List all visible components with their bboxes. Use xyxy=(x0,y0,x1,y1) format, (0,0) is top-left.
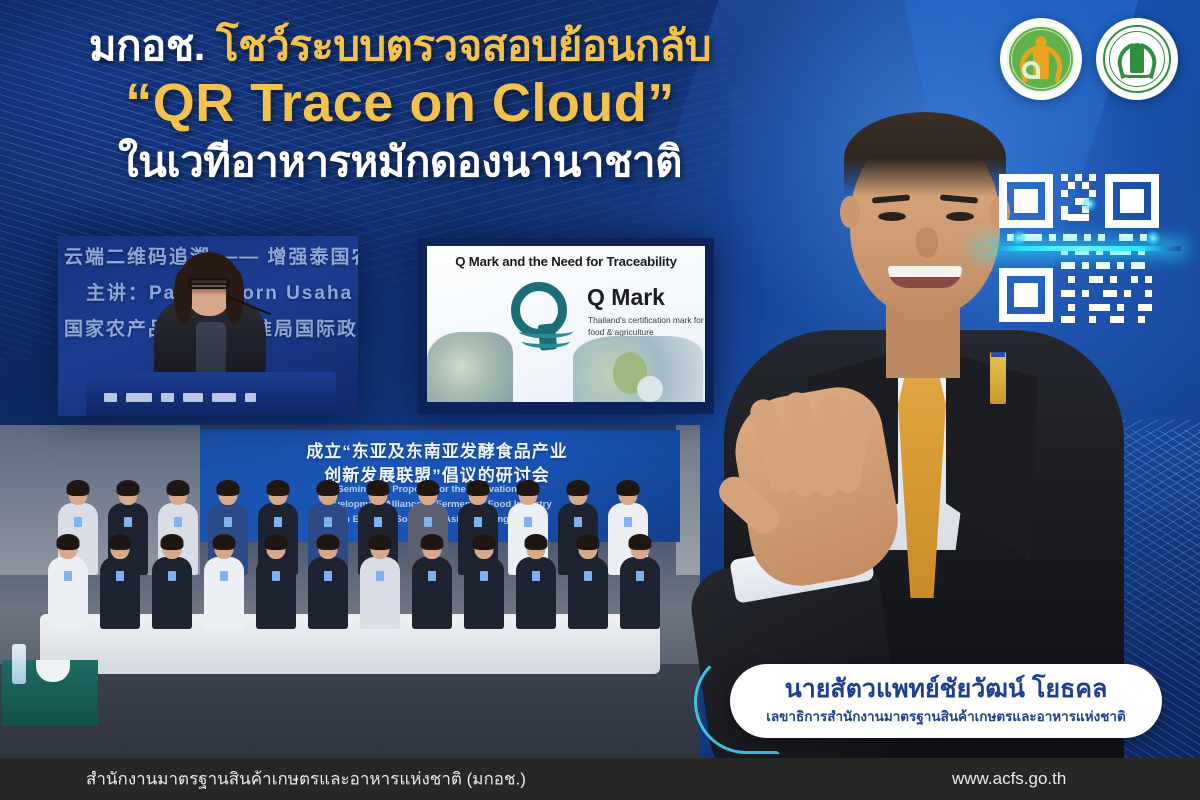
group-person xyxy=(566,537,610,629)
group-person xyxy=(46,537,90,629)
water-bottle-icon xyxy=(12,644,26,684)
group-person xyxy=(618,537,662,629)
footer-bar: สำนักงานมาตรฐานสินค้าเกษตรและอาหารแห่งชา… xyxy=(0,758,1200,800)
group-backdrop-chinese-line-1: 成立“东亚及东南亚发酵食品产业 xyxy=(222,437,652,462)
slide-fruit-icon xyxy=(637,376,663,402)
name-badge-person-name: นายสัตวแพทย์ชัยวัฒน์ โยธคล xyxy=(785,675,1108,704)
agency-emblems xyxy=(1000,18,1178,100)
qr-scan-line xyxy=(981,246,1181,251)
eyeglasses-icon xyxy=(188,278,230,289)
portrait-eye-right xyxy=(946,212,974,221)
speaker-podium-photo: 云端二维码追溯 —— 增强泰国农 主讲：Patamaporn Usaha 国家农… xyxy=(58,236,358,416)
name-badge-person-role: เลขาธิการสำนักงานมาตรฐานสินค้าเกษตรและอา… xyxy=(766,705,1125,727)
headline-block: มกอช. โชว์ระบบตรวจสอบย้อนกลับ “QR Trace … xyxy=(0,22,800,185)
group-person xyxy=(306,537,350,629)
podium-sponsor-logos xyxy=(104,393,256,402)
group-person xyxy=(98,537,142,629)
group-person xyxy=(462,537,506,629)
footer-organization-name: สำนักงานมาตรฐานสินค้าเกษตรและอาหารแห่งชา… xyxy=(86,766,526,793)
presentation-slide: Q Mark and the Need for Traceability Q M… xyxy=(427,246,705,402)
headline-line-3: ในเวทีอาหารหมักดองนานาชาติ xyxy=(0,138,800,185)
portrait-mouth xyxy=(888,266,962,288)
footer-website-url[interactable]: www.acfs.go.th xyxy=(952,769,1066,789)
headline-line-2: “QR Trace on Cloud” xyxy=(0,73,800,133)
portrait-hair xyxy=(844,112,1006,204)
poster-canvas: 成立“东亚及东南亚发酵食品产业 创新发展联盟”倡议的研讨会 Seminar on… xyxy=(0,0,1200,800)
portrait-nose xyxy=(916,228,938,258)
acfs-national-bureau-emblem xyxy=(1096,18,1178,100)
group-person xyxy=(150,537,194,629)
qr-code-graphic xyxy=(995,168,1167,330)
group-person xyxy=(202,537,246,629)
q-mark-logo-icon xyxy=(507,280,573,352)
slide-produce-left xyxy=(427,332,513,402)
headline-org-abbrev: มกอช. xyxy=(89,22,205,69)
group-person xyxy=(254,537,298,629)
group-photo: 成立“东亚及东南亚发酵食品产业 创新发展联盟”倡议的研讨会 Seminar on… xyxy=(0,425,700,760)
headline-line-1: มกอช. โชว์ระบบตรวจสอบย้อนกลับ xyxy=(0,22,800,69)
headline-line-1-gold: โชว์ระบบตรวจสอบย้อนกลับ xyxy=(216,22,711,69)
group-photo-floor xyxy=(0,664,700,760)
slide-subtitle: Thailand's certification mark for food &… xyxy=(588,314,705,338)
presentation-screen-photo: Q Mark and the Need for Traceability Q M… xyxy=(418,238,714,414)
slide-brand-name: Q Mark xyxy=(587,284,665,311)
group-person xyxy=(358,537,402,629)
slide-title: Q Mark and the Need for Traceability xyxy=(427,254,705,269)
name-badge: นายสัตวแพทย์ชัยวัฒน์ โยธคล เลขาธิการสำนั… xyxy=(730,664,1162,738)
portrait-eye-left xyxy=(878,212,906,221)
group-person xyxy=(410,537,454,629)
qr-code-modules xyxy=(995,168,1167,330)
group-person xyxy=(514,537,558,629)
group-photo-front-row xyxy=(46,537,662,629)
portrait-lapel-pin-icon xyxy=(990,352,1006,404)
ministry-of-agriculture-and-cooperatives-emblem xyxy=(1000,18,1082,100)
